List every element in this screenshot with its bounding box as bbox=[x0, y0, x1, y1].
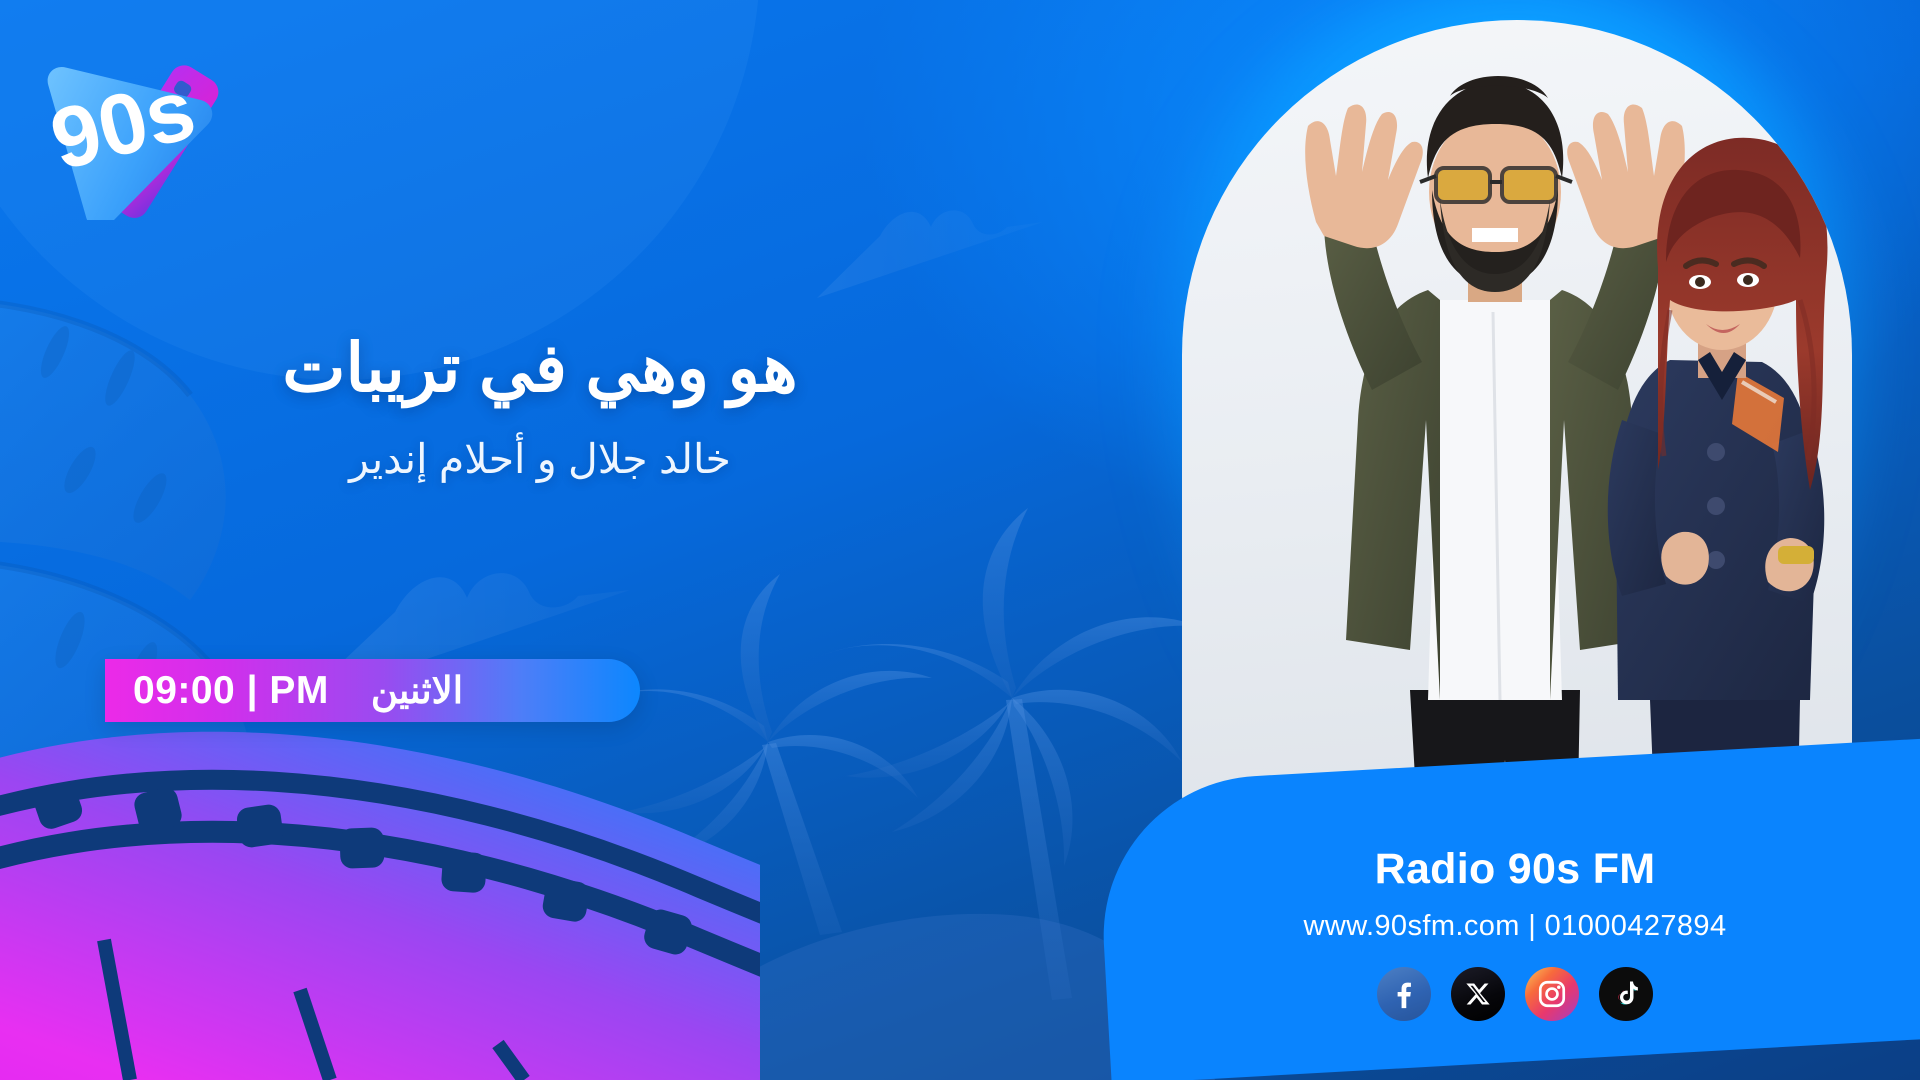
promo-poster: 90s هو وهي في تريبات خالد جلال و أحلام إ… bbox=[0, 0, 1920, 1080]
footer-content: Radio 90s FM www.90sfm.com | 01000427894 bbox=[1110, 845, 1920, 1021]
x-twitter-link[interactable] bbox=[1451, 967, 1505, 1021]
station-name: Radio 90s FM bbox=[1110, 845, 1920, 894]
show-hosts: خالد جلال و أحلام إندير bbox=[0, 435, 1080, 483]
tiktok-icon bbox=[1611, 979, 1641, 1009]
facebook-link[interactable] bbox=[1377, 967, 1431, 1021]
schedule-day: الاثنين bbox=[371, 669, 463, 712]
x-twitter-icon bbox=[1464, 980, 1492, 1008]
film-strip bbox=[0, 732, 1100, 1080]
show-text-block: هو وهي في تريبات خالد جلال و أحلام إندير bbox=[0, 330, 1080, 483]
social-links bbox=[1110, 967, 1920, 1021]
schedule-time: 09:00 | PM bbox=[133, 669, 329, 713]
show-title: هو وهي في تريبات bbox=[0, 330, 1080, 407]
tiktok-link[interactable] bbox=[1599, 967, 1653, 1021]
facebook-icon bbox=[1387, 977, 1421, 1011]
instagram-link[interactable] bbox=[1525, 967, 1579, 1021]
schedule-badge[interactable]: 09:00 | PM الاثنين bbox=[105, 659, 640, 722]
station-logo[interactable]: 90s bbox=[30, 35, 245, 220]
contact-line: www.90sfm.com | 01000427894 bbox=[1110, 910, 1920, 943]
instagram-icon bbox=[1536, 978, 1568, 1010]
